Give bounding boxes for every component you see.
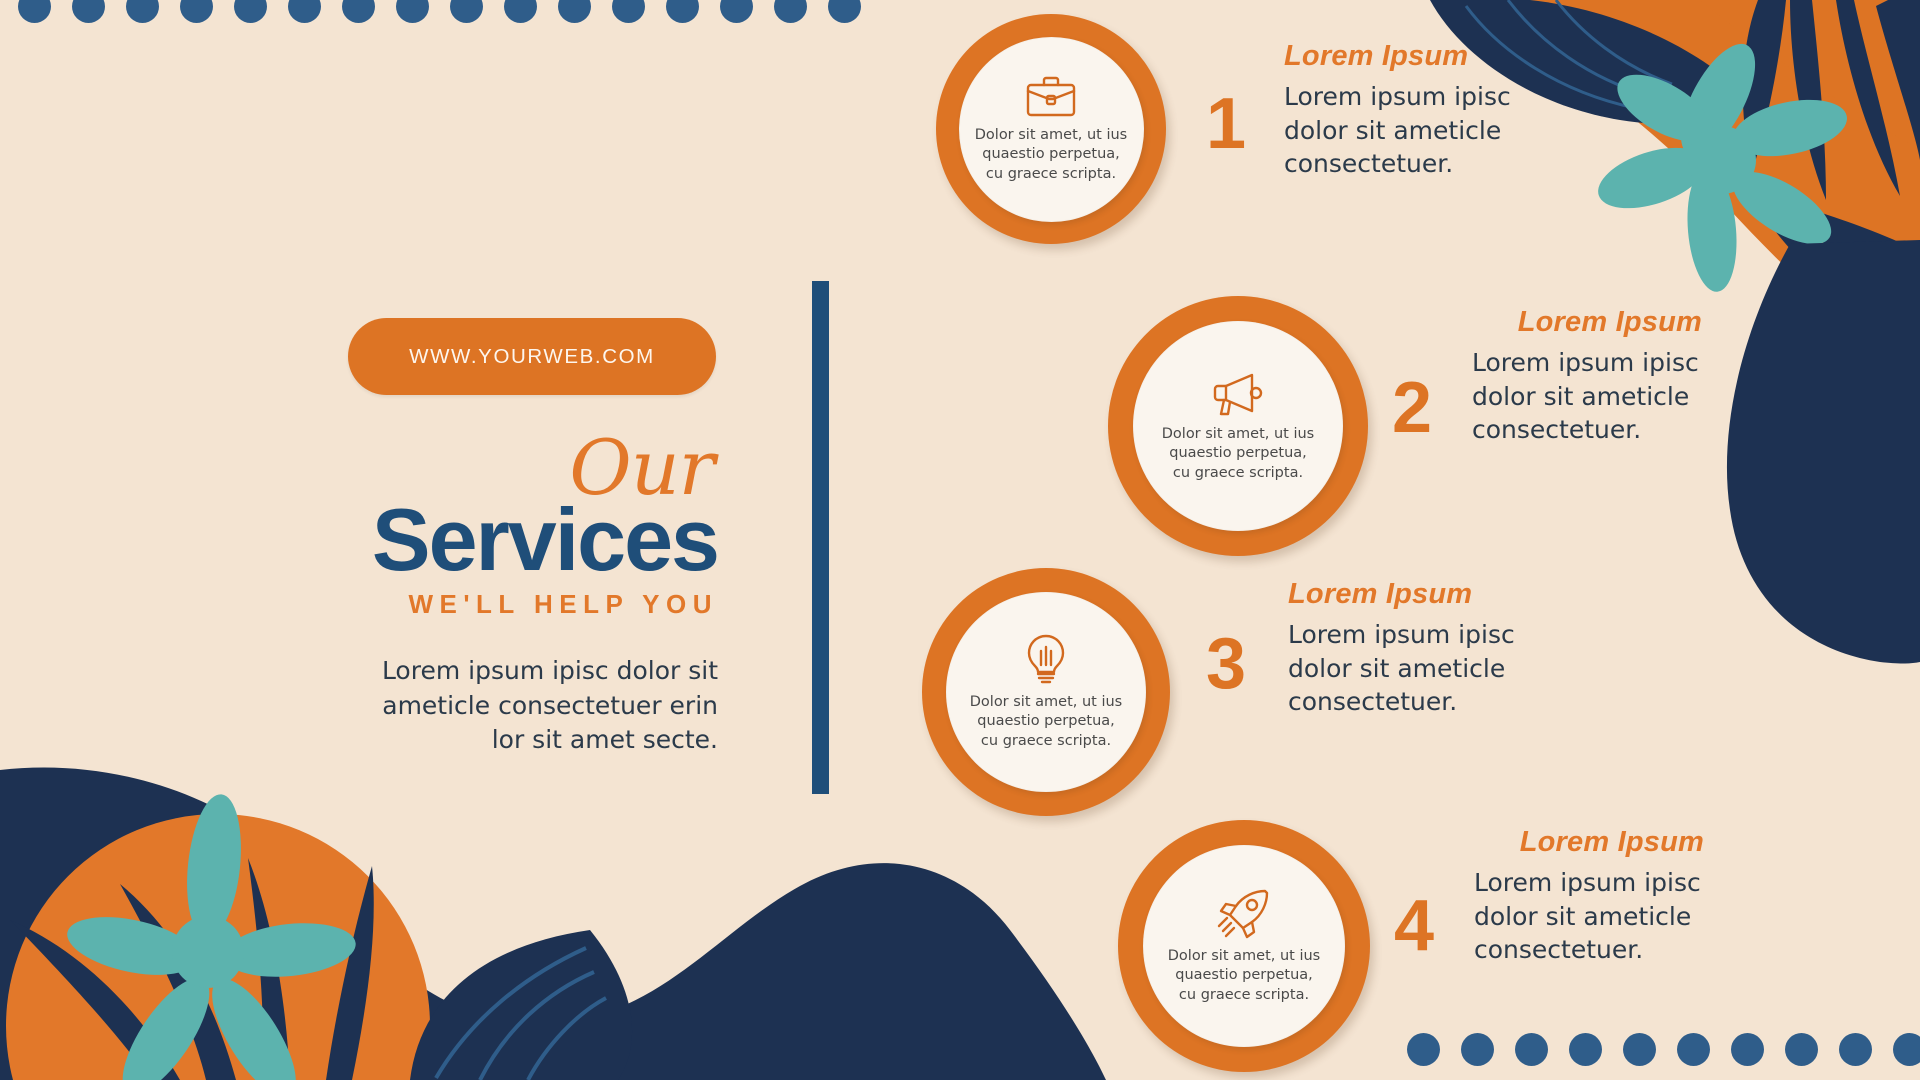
service-badge-1[interactable]: Dolor sit amet, ut ius quaestio perpetua… bbox=[936, 14, 1166, 244]
decorative-dot bbox=[504, 0, 537, 23]
service-number-2: 2 bbox=[1392, 372, 1432, 444]
decorative-dot bbox=[72, 0, 105, 23]
decorative-dot bbox=[1461, 1033, 1494, 1066]
decorative-dot bbox=[1893, 1033, 1920, 1066]
dot-row-bottom bbox=[1407, 1033, 1920, 1066]
service-copy-3: Lorem Ipsum Lorem ipsum ipisc dolor sit … bbox=[1288, 578, 1518, 719]
service-body-2: Lorem ipsum ipisc dolor sit ameticle con… bbox=[1472, 346, 1702, 447]
service-number-4: 4 bbox=[1394, 890, 1434, 962]
decorative-dot bbox=[396, 0, 429, 23]
badge-caption-3: Dolor sit amet, ut ius quaestio perpetua… bbox=[962, 693, 1130, 750]
megaphone-icon bbox=[1211, 369, 1265, 421]
decorative-dot bbox=[234, 0, 267, 23]
briefcase-icon bbox=[1025, 74, 1077, 122]
decorative-dot bbox=[1839, 1033, 1872, 1066]
teal-flower-bottom bbox=[62, 792, 358, 1080]
title-main-word: Services bbox=[348, 497, 718, 582]
rocket-icon bbox=[1217, 887, 1271, 943]
service-title-1: Lorem Ipsum bbox=[1284, 40, 1514, 73]
decorative-dot bbox=[1407, 1033, 1440, 1066]
service-number-3: 3 bbox=[1206, 628, 1246, 700]
bottom-left-wave bbox=[0, 767, 1106, 1080]
service-title-4: Lorem Ipsum bbox=[1474, 826, 1704, 859]
vertical-divider bbox=[812, 281, 829, 794]
dot-row-top bbox=[18, 0, 861, 23]
service-badge-4[interactable]: Dolor sit amet, ut ius quaestio perpetua… bbox=[1118, 820, 1370, 1072]
lightbulb-icon bbox=[1024, 633, 1068, 689]
service-copy-4: Lorem Ipsum Lorem ipsum ipisc dolor sit … bbox=[1474, 826, 1704, 967]
decorative-dot bbox=[1569, 1033, 1602, 1066]
service-body-3: Lorem ipsum ipisc dolor sit ameticle con… bbox=[1288, 618, 1518, 719]
decorative-dot bbox=[1677, 1033, 1710, 1066]
decorative-dot bbox=[612, 0, 645, 23]
decorative-dot bbox=[126, 0, 159, 23]
decorative-dot bbox=[558, 0, 591, 23]
badge-caption-4: Dolor sit amet, ut ius quaestio perpetua… bbox=[1160, 947, 1328, 1004]
badge-caption-2: Dolor sit amet, ut ius quaestio perpetua… bbox=[1154, 425, 1322, 482]
tagline: WE'LL HELP YOU bbox=[348, 589, 718, 620]
badge-caption-1: Dolor sit amet, ut ius quaestio perpetua… bbox=[967, 126, 1135, 183]
decorative-dot bbox=[180, 0, 213, 23]
service-badge-3[interactable]: Dolor sit amet, ut ius quaestio perpetua… bbox=[922, 568, 1170, 816]
decorative-dot bbox=[720, 0, 753, 23]
decorative-dot bbox=[450, 0, 483, 23]
decorative-dot bbox=[774, 0, 807, 23]
service-copy-1: Lorem Ipsum Lorem ipsum ipisc dolor sit … bbox=[1284, 40, 1514, 181]
service-title-3: Lorem Ipsum bbox=[1288, 578, 1518, 611]
decorative-dot bbox=[1623, 1033, 1656, 1066]
service-badge-2[interactable]: Dolor sit amet, ut ius quaestio perpetua… bbox=[1108, 296, 1368, 556]
decorative-dot bbox=[1515, 1033, 1548, 1066]
decorative-dot bbox=[1731, 1033, 1764, 1066]
service-copy-2: Lorem Ipsum Lorem ipsum ipisc dolor sit … bbox=[1472, 306, 1702, 447]
decorative-dot bbox=[1785, 1033, 1818, 1066]
decorative-dot bbox=[828, 0, 861, 23]
teal-flower-top bbox=[1591, 33, 1852, 294]
service-body-1: Lorem ipsum ipisc dolor sit ameticle con… bbox=[1284, 80, 1514, 181]
left-content-block: WWW.YOURWEB.COM Our Services WE'LL HELP … bbox=[348, 318, 718, 757]
right-navy-blob bbox=[1727, 240, 1920, 664]
decorative-dot bbox=[18, 0, 51, 23]
decorative-dot bbox=[666, 0, 699, 23]
decorative-dot bbox=[288, 0, 321, 23]
infographic-canvas: WWW.YOURWEB.COM Our Services WE'LL HELP … bbox=[0, 0, 1920, 1080]
website-button[interactable]: WWW.YOURWEB.COM bbox=[348, 318, 716, 395]
service-title-2: Lorem Ipsum bbox=[1472, 306, 1702, 339]
decorative-dot bbox=[342, 0, 375, 23]
service-body-4: Lorem ipsum ipisc dolor sit ameticle con… bbox=[1474, 866, 1704, 967]
intro-paragraph: Lorem ipsum ipisc dolor sit ameticle con… bbox=[348, 654, 718, 757]
service-number-1: 1 bbox=[1206, 88, 1246, 160]
page-title: Our Services WE'LL HELP YOU bbox=[348, 433, 718, 620]
